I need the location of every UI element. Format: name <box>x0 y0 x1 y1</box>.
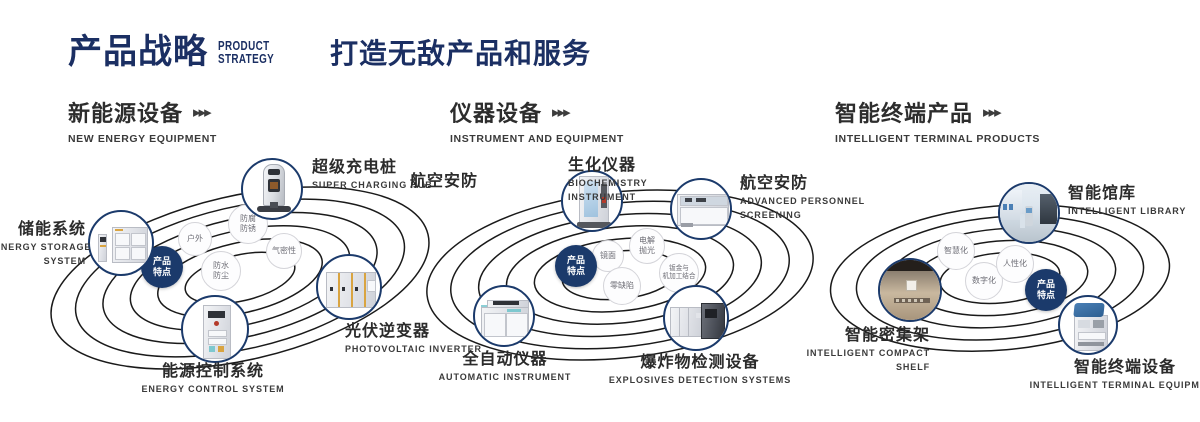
side-label-cn: 航空安防 <box>410 172 478 191</box>
section-title-cn: 智能终端产品 ▸▸▸ <box>835 96 1040 128</box>
section-title-en: NEW ENERGY EQUIPMENT <box>68 133 217 145</box>
control-cabinet-icon <box>183 297 247 361</box>
section-title-cn-text: 智能终端产品 <box>835 96 973 128</box>
explosives-detector-icon <box>665 287 727 349</box>
node-intelligent-compact-shelf[interactable] <box>878 258 942 322</box>
node-label-cn: 生化仪器 <box>568 156 708 175</box>
section-heading-intelligent-terminal: 智能终端产品 ▸▸▸ INTELLIGENT TERMINAL PRODUCTS <box>835 96 1040 145</box>
feature-bubble-line1: 镜面 <box>600 251 616 260</box>
node-label-cn: 全自动仪器 <box>385 350 625 369</box>
feature-bubble-line2: 抛光 <box>639 246 655 256</box>
feature-bubble-line1: 零缺陷 <box>610 281 634 290</box>
node-label-intelligent-terminal-equipment: 智能终端设备 INTELLIGENT TERMINAL EQUIPMENT <box>1010 358 1200 391</box>
feature-bubble: 气密性 <box>266 233 302 269</box>
node-photovoltaic-inverter[interactable] <box>316 254 382 320</box>
section-heading-instrument: 仪器设备 ▸▸▸ INSTRUMENT AND EQUIPMENT <box>450 96 624 145</box>
node-label-cn: 能源控制系统 <box>98 362 328 381</box>
center-badge-line2: 特点 <box>567 266 585 277</box>
node-super-charging-hub[interactable] <box>241 158 303 220</box>
node-advanced-personnel-screening[interactable] <box>670 178 732 240</box>
page-title-en: PRODUCT STRATEGY <box>218 39 274 65</box>
node-automatic-instrument[interactable] <box>473 285 535 347</box>
feature-bubble: 户外 <box>178 222 212 256</box>
poster-canvas: 产品战略 PRODUCT STRATEGY 打造无敌产品和服务 新能源设备 ▸▸… <box>0 0 1200 422</box>
node-label-en-line1: INTELLIGENT COMPACT <box>770 347 930 359</box>
node-explosives-detection-systems[interactable] <box>663 285 729 351</box>
node-label-cn: 智能密集架 <box>770 326 930 345</box>
feature-bubble-line2: 防锈 <box>240 224 256 234</box>
page-title-en-line2: STRATEGY <box>218 52 274 65</box>
self-service-kiosk-icon <box>1060 297 1116 353</box>
section-title-en: INTELLIGENT TERMINAL PRODUCTS <box>835 133 1040 145</box>
node-intelligent-library[interactable] <box>998 182 1060 244</box>
node-label-automatic-instrument: 全自动仪器 AUTOMATIC INSTRUMENT <box>385 350 625 383</box>
node-label-en-line1: INTELLIGENT LIBRARY <box>1068 205 1186 217</box>
pv-inverter-cabinet-icon <box>318 256 380 318</box>
compact-shelving-photo-icon <box>880 260 940 320</box>
library-room-photo-icon <box>1000 184 1058 242</box>
center-badge-line2: 特点 <box>153 267 171 278</box>
feature-bubble-line1: 气密性 <box>272 246 296 255</box>
section-title-cn-text: 仪器设备 <box>450 96 542 128</box>
side-label-advanced-personnel-screening: 航空安防 <box>410 172 478 191</box>
chevrons-icon: ▸▸▸ <box>552 103 569 121</box>
feature-bubble-line2: 防尘 <box>213 271 229 281</box>
node-energy-storage-system[interactable] <box>88 210 154 276</box>
node-energy-control-system[interactable] <box>181 295 249 363</box>
node-label-en-line1: ENERGY CONTROL SYSTEM <box>98 383 328 395</box>
node-intelligent-terminal-equipment[interactable] <box>1058 295 1118 355</box>
center-badge-line1: 产品 <box>567 255 585 266</box>
node-label-energy-storage-system: 储能系统 ENERGY STORAGE SYSTEM <box>0 220 86 267</box>
node-label-en-line2: SYSTEM <box>0 255 86 267</box>
center-badge-line1: 产品 <box>1037 279 1055 290</box>
node-label-en-line2: SHELF <box>770 361 930 373</box>
node-label-cn: 智能馆库 <box>1068 184 1186 203</box>
diagram-cluster-intelligent-terminal: 智慧化 数字化 人性化 产品 特点 <box>810 150 1200 400</box>
automatic-analyzer-icon <box>475 287 533 345</box>
feature-bubble-line1: 人性化 <box>1003 259 1027 268</box>
section-heading-new-energy: 新能源设备 ▸▸▸ NEW ENERGY EQUIPMENT <box>68 96 217 145</box>
diagram-cluster-instrument: 航空安防 镜面 电解 抛光 零缺陷 钣金与 机加工结合 产品 特点 <box>425 150 825 400</box>
poster-header: 产品战略 PRODUCT STRATEGY <box>68 24 292 80</box>
feature-bubble: 电解 抛光 <box>629 228 665 264</box>
node-label-intelligent-compact-shelf: 智能密集架 INTELLIGENT COMPACT SHELF <box>770 326 930 373</box>
section-title-cn-text: 新能源设备 <box>68 96 183 128</box>
diagram-cluster-new-energy: 户外 防腐 防锈 防水 防尘 气密性 产品 特点 <box>40 150 440 400</box>
feature-bubble-line1: 电解 <box>639 236 655 246</box>
node-label-en-line1: INTELLIGENT TERMINAL EQUIPMENT <box>1010 379 1200 391</box>
node-label-intelligent-library: 智能馆库 INTELLIGENT LIBRARY <box>1068 184 1186 217</box>
section-title-cn: 新能源设备 ▸▸▸ <box>68 96 217 128</box>
center-badge-line1: 产品 <box>153 256 171 267</box>
feature-bubble-line2: 机加工结合 <box>663 273 696 281</box>
center-badge: 产品 特点 <box>555 245 597 287</box>
node-label-en-line1: ENERGY STORAGE <box>0 241 86 253</box>
center-badge-line2: 特点 <box>1037 290 1055 301</box>
feature-bubble-line1: 户外 <box>187 234 203 243</box>
feature-bubble: 零缺陷 <box>603 267 641 305</box>
node-label-en-line1: AUTOMATIC INSTRUMENT <box>385 371 625 383</box>
feature-bubble: 防水 防尘 <box>201 251 241 291</box>
screening-machine-icon <box>672 180 730 238</box>
energy-storage-cabinet-icon <box>90 212 152 274</box>
node-label-cn: 储能系统 <box>0 220 86 239</box>
page-slogan: 打造无敌产品和服务 <box>330 32 591 72</box>
node-label-cn: 智能终端设备 <box>1010 358 1200 377</box>
page-title: 产品战略 <box>68 35 208 69</box>
feature-bubble: 智慧化 <box>937 232 975 270</box>
feature-bubble-line1: 钣金与 <box>663 265 696 273</box>
chevrons-icon: ▸▸▸ <box>983 103 1000 121</box>
feature-bubble-line1: 智慧化 <box>944 246 968 255</box>
feature-bubble-line1: 数字化 <box>972 276 996 285</box>
feature-bubble-line1: 防水 <box>213 261 229 271</box>
chevrons-icon: ▸▸▸ <box>193 103 210 121</box>
node-label-energy-control-system: 能源控制系统 ENERGY CONTROL SYSTEM <box>98 362 328 395</box>
section-title-cn: 仪器设备 ▸▸▸ <box>450 96 624 128</box>
section-title-en: INSTRUMENT AND EQUIPMENT <box>450 133 624 145</box>
ev-charging-pile-icon <box>243 160 301 218</box>
